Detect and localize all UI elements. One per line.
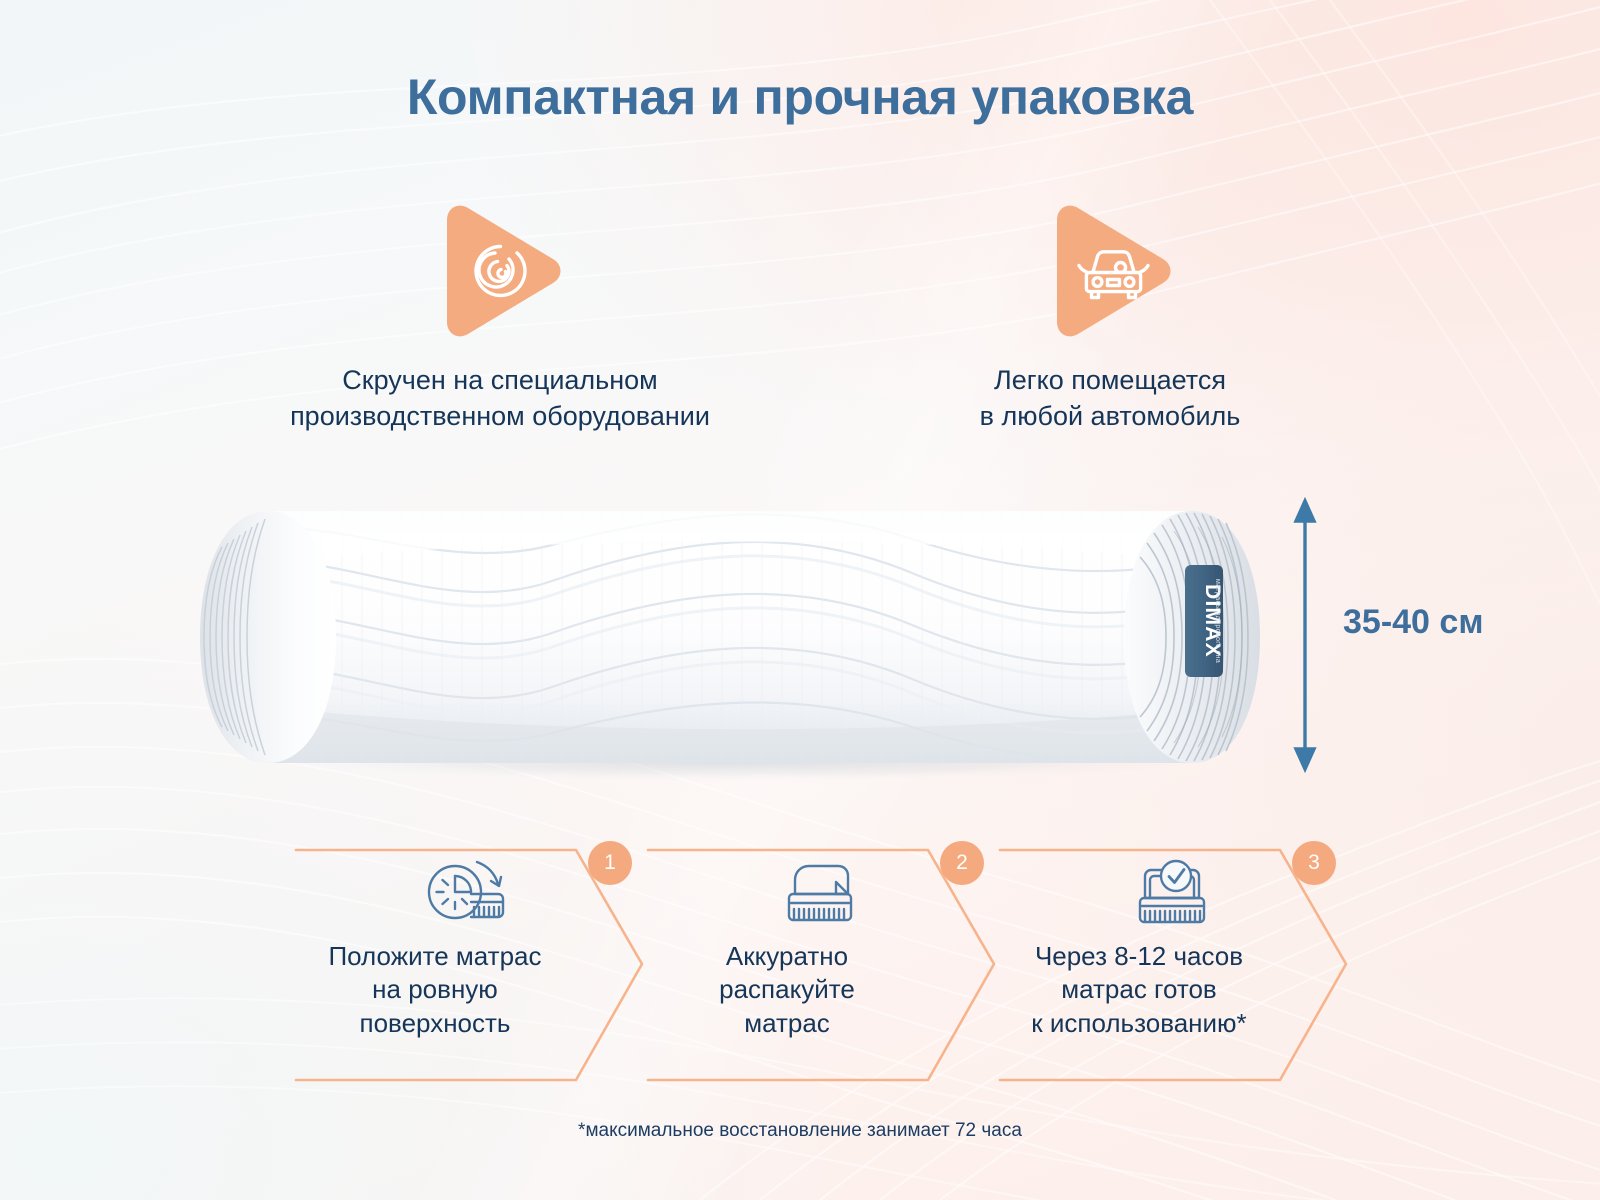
feature-caption: Скручен на специальном производственном …: [190, 362, 810, 434]
feature-rolled-on-equipment: Скручен на специальном производственном …: [190, 196, 810, 434]
svg-text:матрасы здорового сна: матрасы здорового сна: [1214, 579, 1223, 663]
step-caption: Аккуратно распакуйте матрас: [632, 940, 942, 1040]
dimension-label: 35-40 см: [1343, 603, 1483, 642]
steps-row: 1 Положите матрас на ро: [290, 836, 1300, 1092]
feature-fits-any-car: Легко помещается в любой автомобиль: [870, 196, 1350, 434]
spiral-roll-icon: [425, 196, 575, 346]
step-1: 1 Положите матрас на ро: [290, 836, 646, 1092]
height-dimension: 35-40 см: [1283, 495, 1600, 775]
footnote: *максимальное восстановление занимает 72…: [0, 1120, 1600, 1142]
step-number-badge: 1: [588, 841, 632, 885]
infographic-canvas: Компактная и прочная упаковка Скручен на…: [0, 0, 1600, 1200]
step-3: 3 Через 8-12 часов матрас готов к исполь…: [994, 836, 1350, 1092]
step-number-badge: 3: [1292, 841, 1336, 885]
step-2: 2 Аккуратно распакуйте матрас: [642, 836, 998, 1092]
rolled-mattress-photo: DIMAX матрасы здорового сна: [182, 503, 1272, 771]
step-caption: Положите матрас на ровную поверхность: [280, 940, 590, 1040]
step-number-badge: 2: [940, 841, 984, 885]
car-icon: [1035, 196, 1185, 346]
page-title: Компактная и прочная упаковка: [0, 68, 1600, 126]
step-caption: Через 8-12 часов матрас готов к использо…: [984, 940, 1294, 1040]
brand-tag: DIMAX матрасы здорового сна: [1185, 565, 1224, 677]
feature-caption: Легко помещается в любой автомобиль: [870, 362, 1350, 434]
